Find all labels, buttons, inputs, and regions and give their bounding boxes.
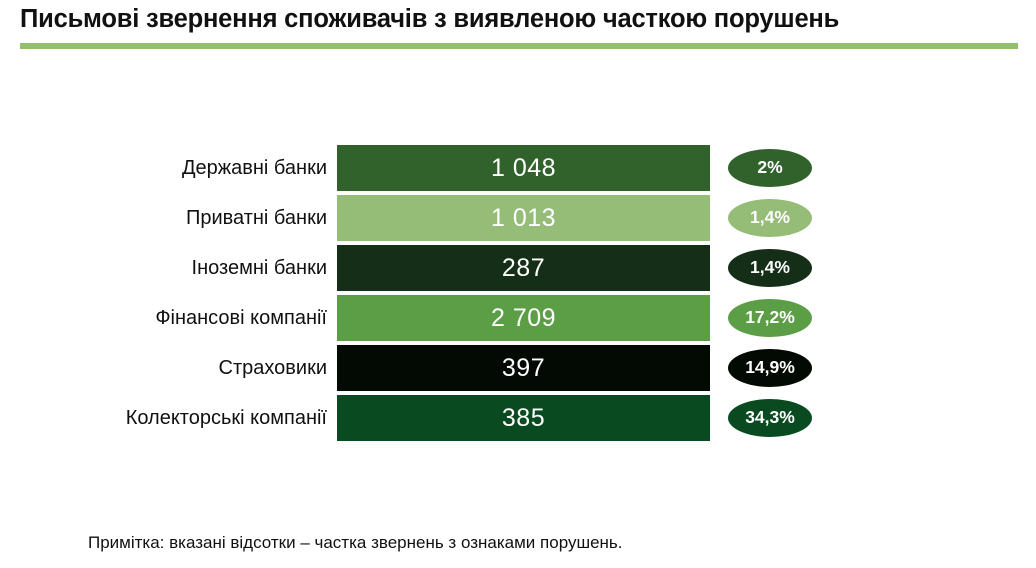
share-badge: 34,3%	[728, 399, 812, 437]
category-label: Іноземні банки	[40, 245, 327, 291]
category-label: Страховики	[40, 345, 327, 391]
chart-footnote: Примітка: вказані відсотки – частка звер…	[88, 533, 623, 553]
share-badge: 2%	[728, 149, 812, 187]
category-label: Фінансові компанії	[40, 295, 327, 341]
share-badge: 1,4%	[728, 249, 812, 287]
share-badge-label: 1,4%	[750, 209, 790, 227]
share-badge-label: 17,2%	[745, 309, 795, 327]
bar-value-label: 385	[502, 406, 545, 431]
share-badge-label: 1,4%	[750, 259, 790, 277]
value-bar: 1 048	[337, 145, 710, 191]
bar-value-label: 397	[502, 356, 545, 381]
chart-row: Колекторські компанії38534,3%	[0, 395, 1036, 441]
bar-value-label: 2 709	[491, 306, 556, 331]
title-accent-rule	[20, 43, 1018, 49]
share-badge-label: 34,3%	[745, 409, 795, 427]
chart-header: Письмові звернення споживачів з виявлено…	[0, 0, 1036, 52]
chart-row: Державні банки1 0482%	[0, 145, 1036, 191]
page-title: Письмові звернення споживачів з виявлено…	[20, 3, 1020, 35]
bar-chart: Державні банки1 0482%Приватні банки1 013…	[0, 145, 1036, 450]
category-label: Державні банки	[40, 145, 327, 191]
value-bar: 2 709	[337, 295, 710, 341]
share-badge: 14,9%	[728, 349, 812, 387]
category-label: Приватні банки	[40, 195, 327, 241]
value-bar: 1 013	[337, 195, 710, 241]
value-bar: 385	[337, 395, 710, 441]
chart-row: Страховики39714,9%	[0, 345, 1036, 391]
share-badge-label: 14,9%	[745, 359, 795, 377]
bar-value-label: 1 048	[491, 156, 556, 181]
chart-row: Фінансові компанії2 70917,2%	[0, 295, 1036, 341]
category-label: Колекторські компанії	[40, 395, 327, 441]
share-badge: 1,4%	[728, 199, 812, 237]
share-badge-label: 2%	[757, 159, 782, 177]
share-badge: 17,2%	[728, 299, 812, 337]
chart-row: Іноземні банки2871,4%	[0, 245, 1036, 291]
chart-row: Приватні банки1 0131,4%	[0, 195, 1036, 241]
bar-value-label: 1 013	[491, 206, 556, 231]
bar-value-label: 287	[502, 256, 545, 281]
value-bar: 397	[337, 345, 710, 391]
value-bar: 287	[337, 245, 710, 291]
